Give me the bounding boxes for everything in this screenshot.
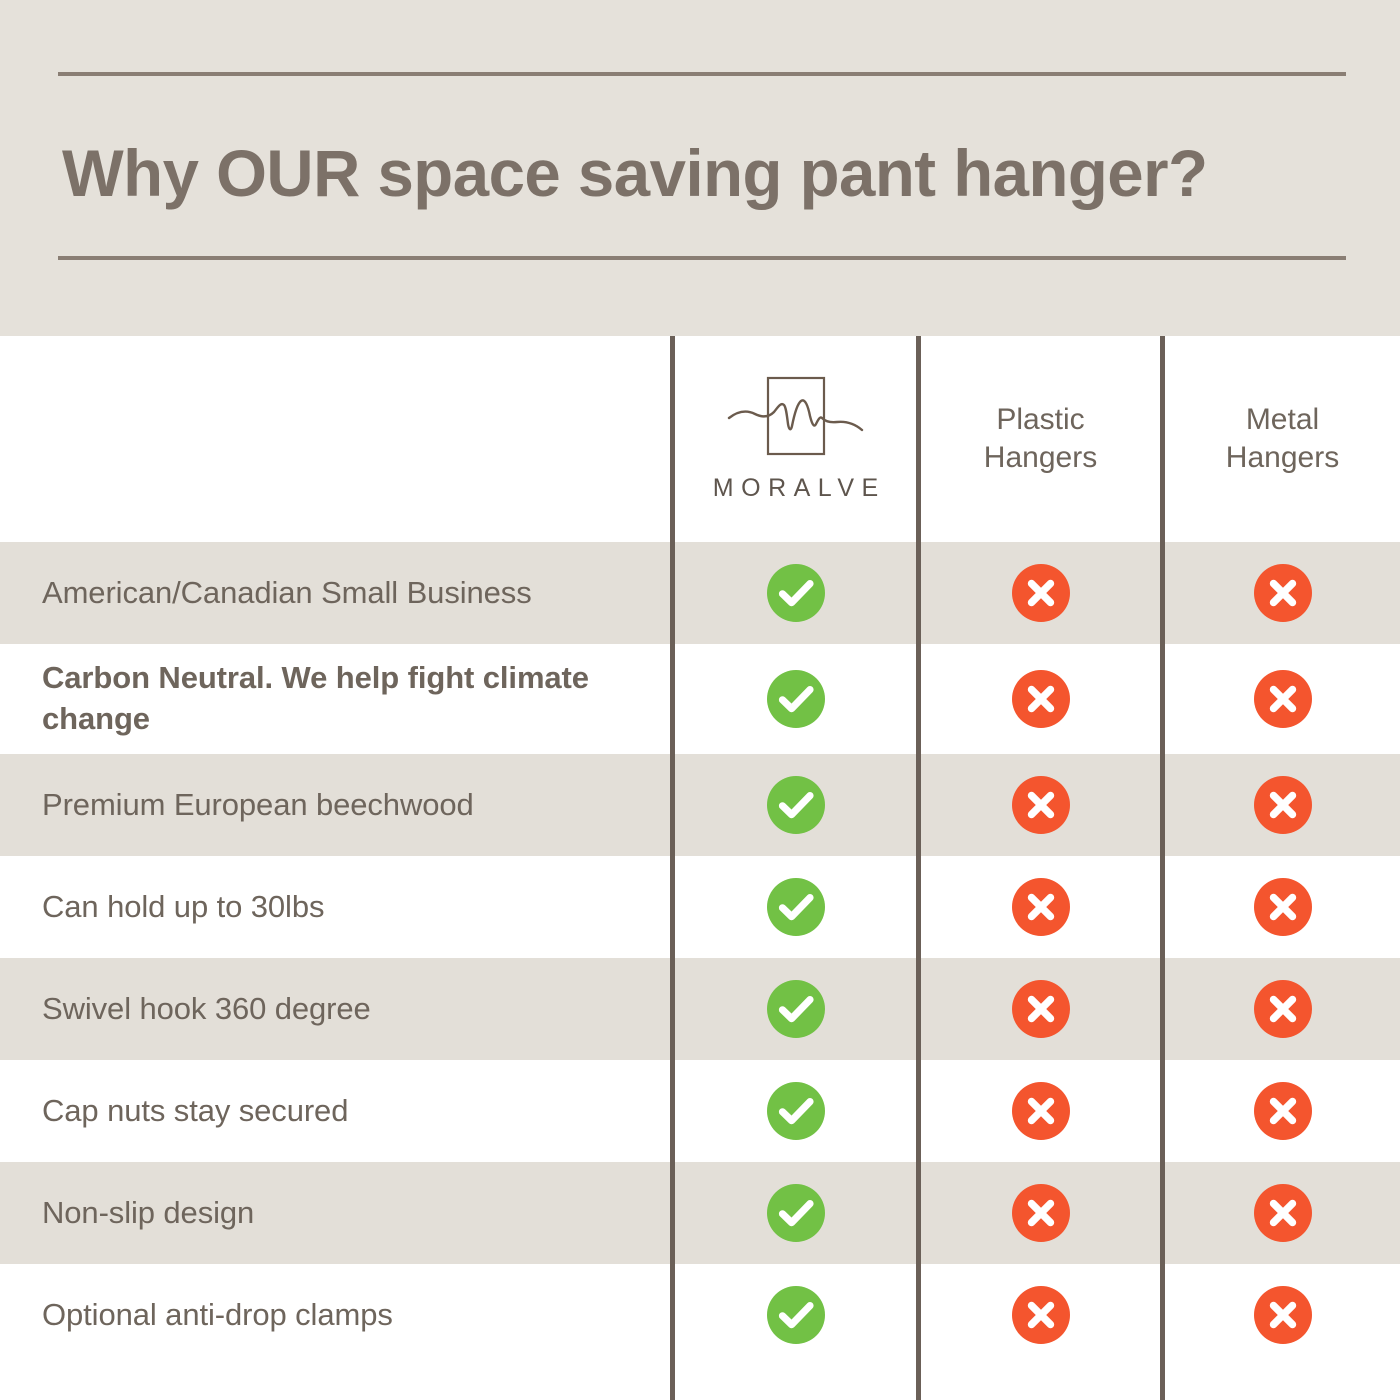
table-row: Cap nuts stay secured: [0, 1060, 1400, 1162]
column-header-plastic-hangers: Plastic Hangers: [921, 336, 1160, 542]
feature-cell-plastic: [921, 958, 1160, 1060]
cross-circle-icon: [1254, 670, 1312, 728]
feature-cell-moralve: [675, 1264, 916, 1366]
feature-label: Can hold up to 30lbs: [42, 856, 642, 958]
column-header-line: Hangers: [1226, 439, 1339, 477]
feature-cell-plastic: [921, 856, 1160, 958]
feature-cell-moralve: [675, 542, 916, 644]
table-row: Premium European beechwood: [0, 754, 1400, 856]
cross-circle-icon: [1012, 1082, 1070, 1140]
table-row: Non-slip design: [0, 1162, 1400, 1264]
check-circle-icon: [767, 878, 825, 936]
feature-label: Swivel hook 360 degree: [42, 958, 642, 1060]
column-header-row: MORALVE Plastic Hangers Metal Hangers: [0, 336, 1400, 542]
feature-label: Optional anti-drop clamps: [42, 1264, 642, 1366]
feature-cell-plastic: [921, 1264, 1160, 1366]
feature-cell-moralve: [675, 644, 916, 754]
cross-circle-icon: [1254, 1184, 1312, 1242]
column-header-line: Plastic: [996, 401, 1084, 439]
feature-cell-plastic: [921, 542, 1160, 644]
check-circle-icon: [767, 1184, 825, 1242]
table-row: American/Canadian Small Business: [0, 542, 1400, 644]
feature-label: Carbon Neutral. We help fight climate ch…: [42, 644, 602, 754]
feature-cell-moralve: [675, 1060, 916, 1162]
feature-cell-moralve: [675, 1162, 916, 1264]
header-band: Why OUR space saving pant hanger?: [0, 0, 1400, 336]
column-header-metal-hangers: Metal Hangers: [1165, 336, 1400, 542]
comparison-chart-page: Why OUR space saving pant hanger? MORALV…: [0, 0, 1400, 1400]
feature-cell-plastic: [921, 754, 1160, 856]
column-header-line: Metal: [1246, 401, 1319, 439]
column-header-moralve: MORALVE: [675, 336, 916, 542]
cross-circle-icon: [1254, 878, 1312, 936]
cross-circle-icon: [1012, 670, 1070, 728]
feature-cell-metal: [1165, 754, 1400, 856]
column-divider-1: [670, 336, 675, 1400]
cross-circle-icon: [1254, 980, 1312, 1038]
moralve-logo-icon: [721, 374, 871, 458]
feature-cell-moralve: [675, 958, 916, 1060]
header-rule-bottom: [58, 256, 1346, 260]
feature-cell-metal: [1165, 644, 1400, 754]
check-circle-icon: [767, 1286, 825, 1344]
table-row: Optional anti-drop clamps: [0, 1264, 1400, 1366]
column-divider-2: [916, 336, 921, 1400]
cross-circle-icon: [1012, 776, 1070, 834]
column-header-line: Hangers: [984, 439, 1097, 477]
cross-circle-icon: [1012, 878, 1070, 936]
comparison-table: MORALVE Plastic Hangers Metal Hangers Am…: [0, 336, 1400, 1400]
cross-circle-icon: [1012, 980, 1070, 1038]
check-circle-icon: [767, 1082, 825, 1140]
check-circle-icon: [767, 776, 825, 834]
feature-cell-metal: [1165, 542, 1400, 644]
feature-cell-metal: [1165, 856, 1400, 958]
table-row: Carbon Neutral. We help fight climate ch…: [0, 644, 1400, 754]
feature-label: Cap nuts stay secured: [42, 1060, 642, 1162]
feature-label: Premium European beechwood: [42, 754, 642, 856]
table-row: Can hold up to 30lbs: [0, 856, 1400, 958]
brand-wordmark: MORALVE: [705, 472, 885, 504]
check-circle-icon: [767, 564, 825, 622]
brand-lockup: MORALVE: [705, 374, 885, 504]
cross-circle-icon: [1012, 1286, 1070, 1344]
cross-circle-icon: [1012, 564, 1070, 622]
check-circle-icon: [767, 670, 825, 728]
page-title: Why OUR space saving pant hanger?: [62, 118, 1329, 228]
header-rule-top: [58, 72, 1346, 76]
feature-cell-metal: [1165, 1162, 1400, 1264]
feature-cell-moralve: [675, 754, 916, 856]
cross-circle-icon: [1254, 776, 1312, 834]
cross-circle-icon: [1254, 1286, 1312, 1344]
cross-circle-icon: [1254, 564, 1312, 622]
check-circle-icon: [767, 980, 825, 1038]
feature-cell-metal: [1165, 1060, 1400, 1162]
feature-cell-metal: [1165, 1264, 1400, 1366]
feature-cell-plastic: [921, 644, 1160, 754]
feature-cell-moralve: [675, 856, 916, 958]
feature-cell-plastic: [921, 1162, 1160, 1264]
feature-label: Non-slip design: [42, 1162, 642, 1264]
column-divider-3: [1160, 336, 1165, 1400]
table-row: Swivel hook 360 degree: [0, 958, 1400, 1060]
feature-cell-plastic: [921, 1060, 1160, 1162]
cross-circle-icon: [1254, 1082, 1312, 1140]
cross-circle-icon: [1012, 1184, 1070, 1242]
feature-cell-metal: [1165, 958, 1400, 1060]
feature-label: American/Canadian Small Business: [42, 542, 642, 644]
